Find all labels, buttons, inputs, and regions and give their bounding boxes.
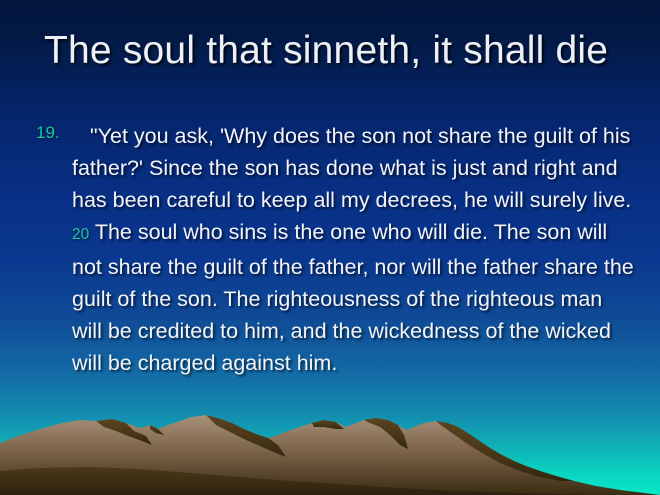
slide-body: 19. "Yet you ask, 'Why does the son not … [36, 120, 636, 379]
presentation-slide: The soul that sinneth, it shall die 19. … [0, 0, 660, 495]
passage-segment-1: "Yet you ask, 'Why does the son not shar… [72, 124, 631, 212]
bullet-list-item: 19. "Yet you ask, 'Why does the son not … [36, 120, 636, 379]
scripture-passage-text: "Yet you ask, 'Why does the son not shar… [72, 120, 636, 379]
verse-number-20: 20 [72, 226, 89, 243]
mountain-landscape-graphic [0, 405, 660, 495]
bullet-number-marker: 19. [36, 123, 60, 143]
passage-segment-2: The soul who sins is the one who will di… [72, 220, 634, 375]
page-title: The soul that sinneth, it shall die [44, 28, 644, 74]
